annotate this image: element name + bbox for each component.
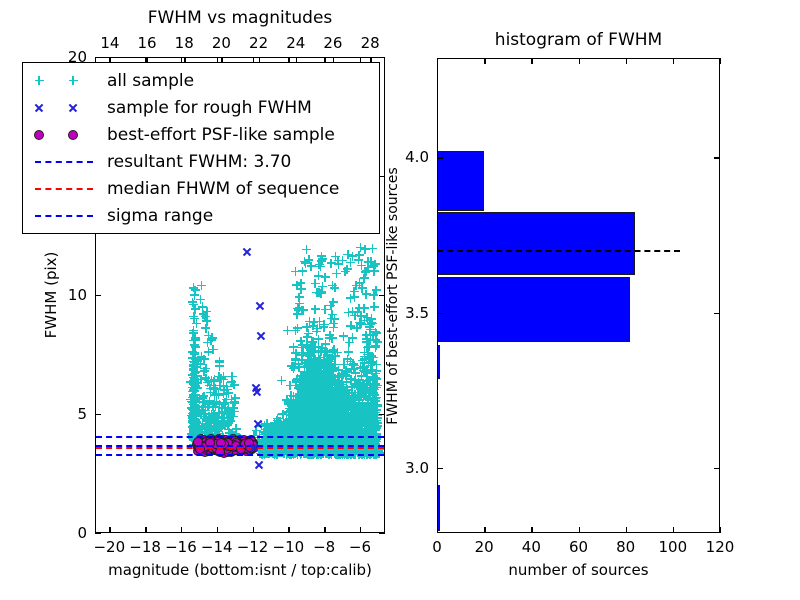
scatter-top-xticklabel: 14 bbox=[100, 34, 119, 52]
scatter-ytick bbox=[95, 533, 101, 534]
hist-xtick bbox=[673, 527, 674, 533]
scatter-xticklabel: −20 bbox=[93, 538, 125, 556]
scatter-xticklabel: −16 bbox=[165, 538, 197, 556]
scatter-point-all bbox=[362, 290, 371, 299]
hist-yaxis-label: FWHM of best-effort PSF-like sources bbox=[385, 167, 401, 424]
scatter-point-all bbox=[207, 336, 216, 345]
scatter-point-all bbox=[344, 347, 353, 356]
legend-item-label: resultant FWHM: 3.70 bbox=[103, 152, 291, 172]
hist-xaxis-label: number of sources bbox=[508, 561, 648, 579]
sigma-range-lower-line bbox=[96, 454, 384, 456]
hist-xtick bbox=[626, 527, 627, 533]
scatter-point-all bbox=[334, 396, 343, 405]
scatter-xtick bbox=[253, 527, 254, 533]
scatter-point-all bbox=[310, 380, 319, 389]
histogram-bar bbox=[438, 485, 440, 532]
scatter-point-all bbox=[319, 381, 328, 390]
scatter-top-xticklabel: 16 bbox=[138, 34, 157, 52]
scatter-point-all bbox=[348, 333, 357, 342]
scatter-point-all bbox=[343, 250, 352, 259]
scatter-point-all bbox=[370, 302, 379, 311]
scatter-xticklabel: −10 bbox=[273, 538, 305, 556]
scatter-point-all bbox=[327, 259, 336, 268]
legend-marker-dashed-line-icon bbox=[29, 152, 103, 172]
hist-ytick-right bbox=[714, 468, 720, 469]
scatter-top-xticklabel: 24 bbox=[286, 34, 305, 52]
scatter-point-all bbox=[296, 390, 305, 399]
hist-xtick bbox=[531, 527, 532, 533]
scatter-xtick bbox=[145, 527, 146, 533]
legend-line-swatch bbox=[35, 215, 93, 217]
scatter-ytick bbox=[95, 295, 101, 296]
hist-yticklabel: 3.5 bbox=[405, 304, 429, 322]
scatter-point-all bbox=[303, 358, 312, 367]
scatter-yticklabel: 0 bbox=[77, 524, 87, 542]
scatter-point-all bbox=[342, 366, 351, 375]
scatter-point-all bbox=[328, 281, 337, 290]
hist-yticklabel: 3.0 bbox=[405, 459, 429, 477]
scatter-point-all bbox=[214, 414, 223, 423]
hist-xtick bbox=[484, 527, 485, 533]
figure-canvas: FWHM vs magnitudes−20−18−16−14−12−10−8−6… bbox=[0, 0, 800, 600]
hist-xticklabel: 60 bbox=[569, 538, 588, 556]
scatter-point-all bbox=[346, 294, 355, 303]
hist-ytick bbox=[437, 157, 443, 158]
scatter-point-all bbox=[326, 405, 335, 414]
legend-line-swatch bbox=[35, 188, 93, 190]
scatter-xaxis-label: magnitude (bottom:isnt / top:calib) bbox=[108, 561, 372, 579]
scatter-ytick bbox=[95, 414, 101, 415]
scatter-point-all bbox=[361, 245, 370, 254]
legend-line-swatch bbox=[35, 161, 93, 163]
legend-item: resultant FWHM: 3.70 bbox=[29, 148, 371, 175]
legend-marker-glyph bbox=[69, 103, 78, 112]
scatter-point-all bbox=[362, 338, 371, 347]
scatter-point-all bbox=[350, 311, 359, 320]
legend-item-label: best-effort PSF-like sample bbox=[103, 125, 335, 145]
plot-legend: all samplesample for rough FWHMbest-effo… bbox=[22, 62, 380, 234]
scatter-top-xticklabel: 22 bbox=[249, 34, 268, 52]
scatter-point-all bbox=[199, 392, 208, 401]
scatter-ytick-right bbox=[379, 57, 385, 58]
scatter-top-xticklabel: 18 bbox=[175, 34, 194, 52]
histogram-bar bbox=[438, 277, 630, 342]
hist-xticklabel: 80 bbox=[616, 538, 635, 556]
legend-marker-dashdot-line-icon bbox=[29, 206, 103, 226]
hist-xtick-top bbox=[484, 58, 485, 64]
legend-item: sigma range bbox=[29, 202, 371, 229]
scatter-xticklabel: −8 bbox=[313, 538, 335, 556]
hist-xtick-top bbox=[531, 58, 532, 64]
hist-ytick bbox=[437, 313, 443, 314]
scatter-point-all bbox=[352, 323, 361, 332]
scatter-point-all bbox=[360, 391, 369, 400]
scatter-point-all bbox=[318, 395, 327, 404]
scatter-xticklabel: −18 bbox=[129, 538, 161, 556]
scatter-point-all bbox=[277, 376, 286, 385]
scatter-point-all bbox=[339, 332, 348, 341]
scatter-point-all bbox=[295, 299, 304, 308]
scatter-point-all bbox=[343, 265, 352, 274]
scatter-point-all bbox=[190, 314, 199, 323]
scatter-point-all bbox=[366, 320, 375, 329]
scatter-point-all bbox=[219, 375, 228, 384]
hist-xtick-top bbox=[673, 58, 674, 64]
hist-xticklabel: 120 bbox=[706, 538, 735, 556]
hist-yticklabel: 4.0 bbox=[405, 148, 429, 166]
scatter-point-all bbox=[204, 347, 213, 356]
scatter-point-all bbox=[328, 334, 337, 343]
scatter-top-xticklabel: 28 bbox=[361, 34, 380, 52]
scatter-xticklabel: −6 bbox=[349, 538, 371, 556]
scatter-point-rough bbox=[253, 419, 262, 428]
scatter-point-rough bbox=[254, 461, 263, 470]
histogram-bar bbox=[438, 345, 440, 379]
scatter-xtick bbox=[324, 527, 325, 533]
sigma-range-upper-line bbox=[96, 436, 384, 438]
scatter-point-all bbox=[201, 364, 210, 373]
scatter-point-all bbox=[331, 378, 340, 387]
scatter-xtick bbox=[217, 527, 218, 533]
legend-item-label: sigma range bbox=[103, 206, 213, 226]
legend-marker-glyph bbox=[34, 130, 44, 140]
scatter-point-all bbox=[311, 416, 320, 425]
scatter-point-all bbox=[283, 326, 292, 335]
scatter-point-all bbox=[362, 416, 371, 425]
scatter-point-all bbox=[224, 406, 233, 415]
scatter-point-all bbox=[189, 360, 198, 369]
scatter-top-xticklabel: 26 bbox=[323, 34, 342, 52]
legend-item: median FHWM of sequence bbox=[29, 175, 371, 202]
hist-xticklabel: 40 bbox=[522, 538, 541, 556]
legend-item: best-effort PSF-like sample bbox=[29, 121, 371, 148]
scatter-point-all bbox=[230, 397, 239, 406]
hist-xtick-top bbox=[626, 58, 627, 64]
legend-marker-plus-icon bbox=[29, 71, 103, 91]
hist-xtick-top bbox=[437, 58, 438, 64]
median-fwhm-line bbox=[96, 447, 384, 449]
scatter-point-all bbox=[317, 289, 326, 298]
scatter-point-all bbox=[304, 255, 313, 264]
legend-marker-dashed-line-icon bbox=[29, 179, 103, 199]
scatter-point-rough bbox=[253, 387, 262, 396]
scatter-point-all bbox=[332, 269, 341, 278]
scatter-point-all bbox=[302, 245, 311, 254]
scatter-point-all bbox=[324, 365, 333, 374]
scatter-point-rough bbox=[243, 248, 252, 257]
left-panel-title: FWHM vs magnitudes bbox=[148, 8, 333, 28]
scatter-point-all bbox=[371, 336, 380, 345]
legend-item-label: median FHWM of sequence bbox=[103, 179, 339, 199]
hist-ytick bbox=[437, 468, 443, 469]
scatter-point-all bbox=[190, 387, 199, 396]
scatter-point-all bbox=[188, 398, 197, 407]
legend-item: all sample bbox=[29, 67, 371, 94]
legend-marker-glyph bbox=[35, 103, 44, 112]
hist-xtick bbox=[579, 527, 580, 533]
scatter-point-all bbox=[293, 324, 302, 333]
scatter-xticklabel: −14 bbox=[201, 538, 233, 556]
scatter-xtick bbox=[181, 527, 182, 533]
histogram-median-line bbox=[438, 250, 680, 252]
scatter-yticklabel: 10 bbox=[68, 286, 87, 304]
scatter-point-all bbox=[372, 416, 381, 425]
scatter-point-rough bbox=[255, 301, 264, 310]
scatter-point-all bbox=[371, 260, 380, 269]
hist-xticklabel: 0 bbox=[432, 538, 442, 556]
scatter-point-all bbox=[215, 357, 224, 366]
histogram-bar bbox=[438, 212, 635, 276]
scatter-point-all bbox=[360, 355, 369, 364]
legend-marker-x-icon bbox=[29, 98, 103, 118]
legend-item-label: all sample bbox=[103, 71, 194, 91]
scatter-point-all bbox=[299, 348, 308, 357]
legend-marker-glyph bbox=[35, 76, 44, 85]
legend-item: sample for rough FWHM bbox=[29, 94, 371, 121]
histogram-data-layer bbox=[438, 59, 719, 532]
scatter-point-all bbox=[320, 320, 329, 329]
histogram-bar bbox=[438, 151, 484, 211]
scatter-point-all bbox=[291, 267, 300, 276]
scatter-point-all bbox=[317, 252, 326, 261]
scatter-ytick bbox=[95, 57, 101, 58]
legend-marker-glyph bbox=[69, 76, 78, 85]
right-panel-title: histogram of FWHM bbox=[495, 30, 662, 50]
hist-xticklabel: 20 bbox=[475, 538, 494, 556]
scatter-yaxis-label: FWHM (pix) bbox=[42, 252, 60, 339]
scatter-point-all bbox=[202, 307, 211, 316]
scatter-point-all bbox=[203, 378, 212, 387]
scatter-point-all bbox=[212, 390, 221, 399]
scatter-point-all bbox=[317, 408, 326, 417]
scatter-yticklabel: 5 bbox=[77, 405, 87, 423]
hist-xtick bbox=[720, 527, 721, 533]
hist-xtick-top bbox=[720, 58, 721, 64]
scatter-xticklabel: −12 bbox=[237, 538, 269, 556]
hist-ytick-right bbox=[714, 157, 720, 158]
scatter-top-xticklabel: 20 bbox=[212, 34, 231, 52]
scatter-point-all bbox=[189, 336, 198, 345]
scatter-point-all bbox=[311, 305, 320, 314]
scatter-point-all bbox=[328, 310, 337, 319]
scatter-point-all bbox=[359, 363, 368, 372]
scatter-point-rough bbox=[250, 443, 259, 452]
scatter-point-all bbox=[368, 358, 377, 367]
scatter-xtick bbox=[360, 527, 361, 533]
scatter-xtick bbox=[288, 527, 289, 533]
hist-xtick bbox=[437, 527, 438, 533]
hist-ytick-right bbox=[714, 313, 720, 314]
scatter-point-all bbox=[297, 422, 306, 431]
scatter-point-all bbox=[305, 400, 314, 409]
legend-marker-circle-icon bbox=[29, 125, 103, 145]
scatter-point-rough bbox=[256, 331, 265, 340]
scatter-point-all bbox=[308, 337, 317, 346]
scatter-point-all bbox=[197, 281, 206, 290]
scatter-point-all bbox=[371, 379, 380, 388]
scatter-point-all bbox=[292, 281, 301, 290]
legend-item-label: sample for rough FWHM bbox=[103, 98, 312, 118]
legend-marker-glyph bbox=[68, 130, 78, 140]
scatter-xtick bbox=[109, 527, 110, 533]
scatter-ytick-right bbox=[379, 533, 385, 534]
scatter-point-all bbox=[329, 323, 338, 332]
scatter-point-all bbox=[315, 260, 324, 269]
hist-xticklabel: 100 bbox=[659, 538, 688, 556]
hist-xtick-top bbox=[579, 58, 580, 64]
